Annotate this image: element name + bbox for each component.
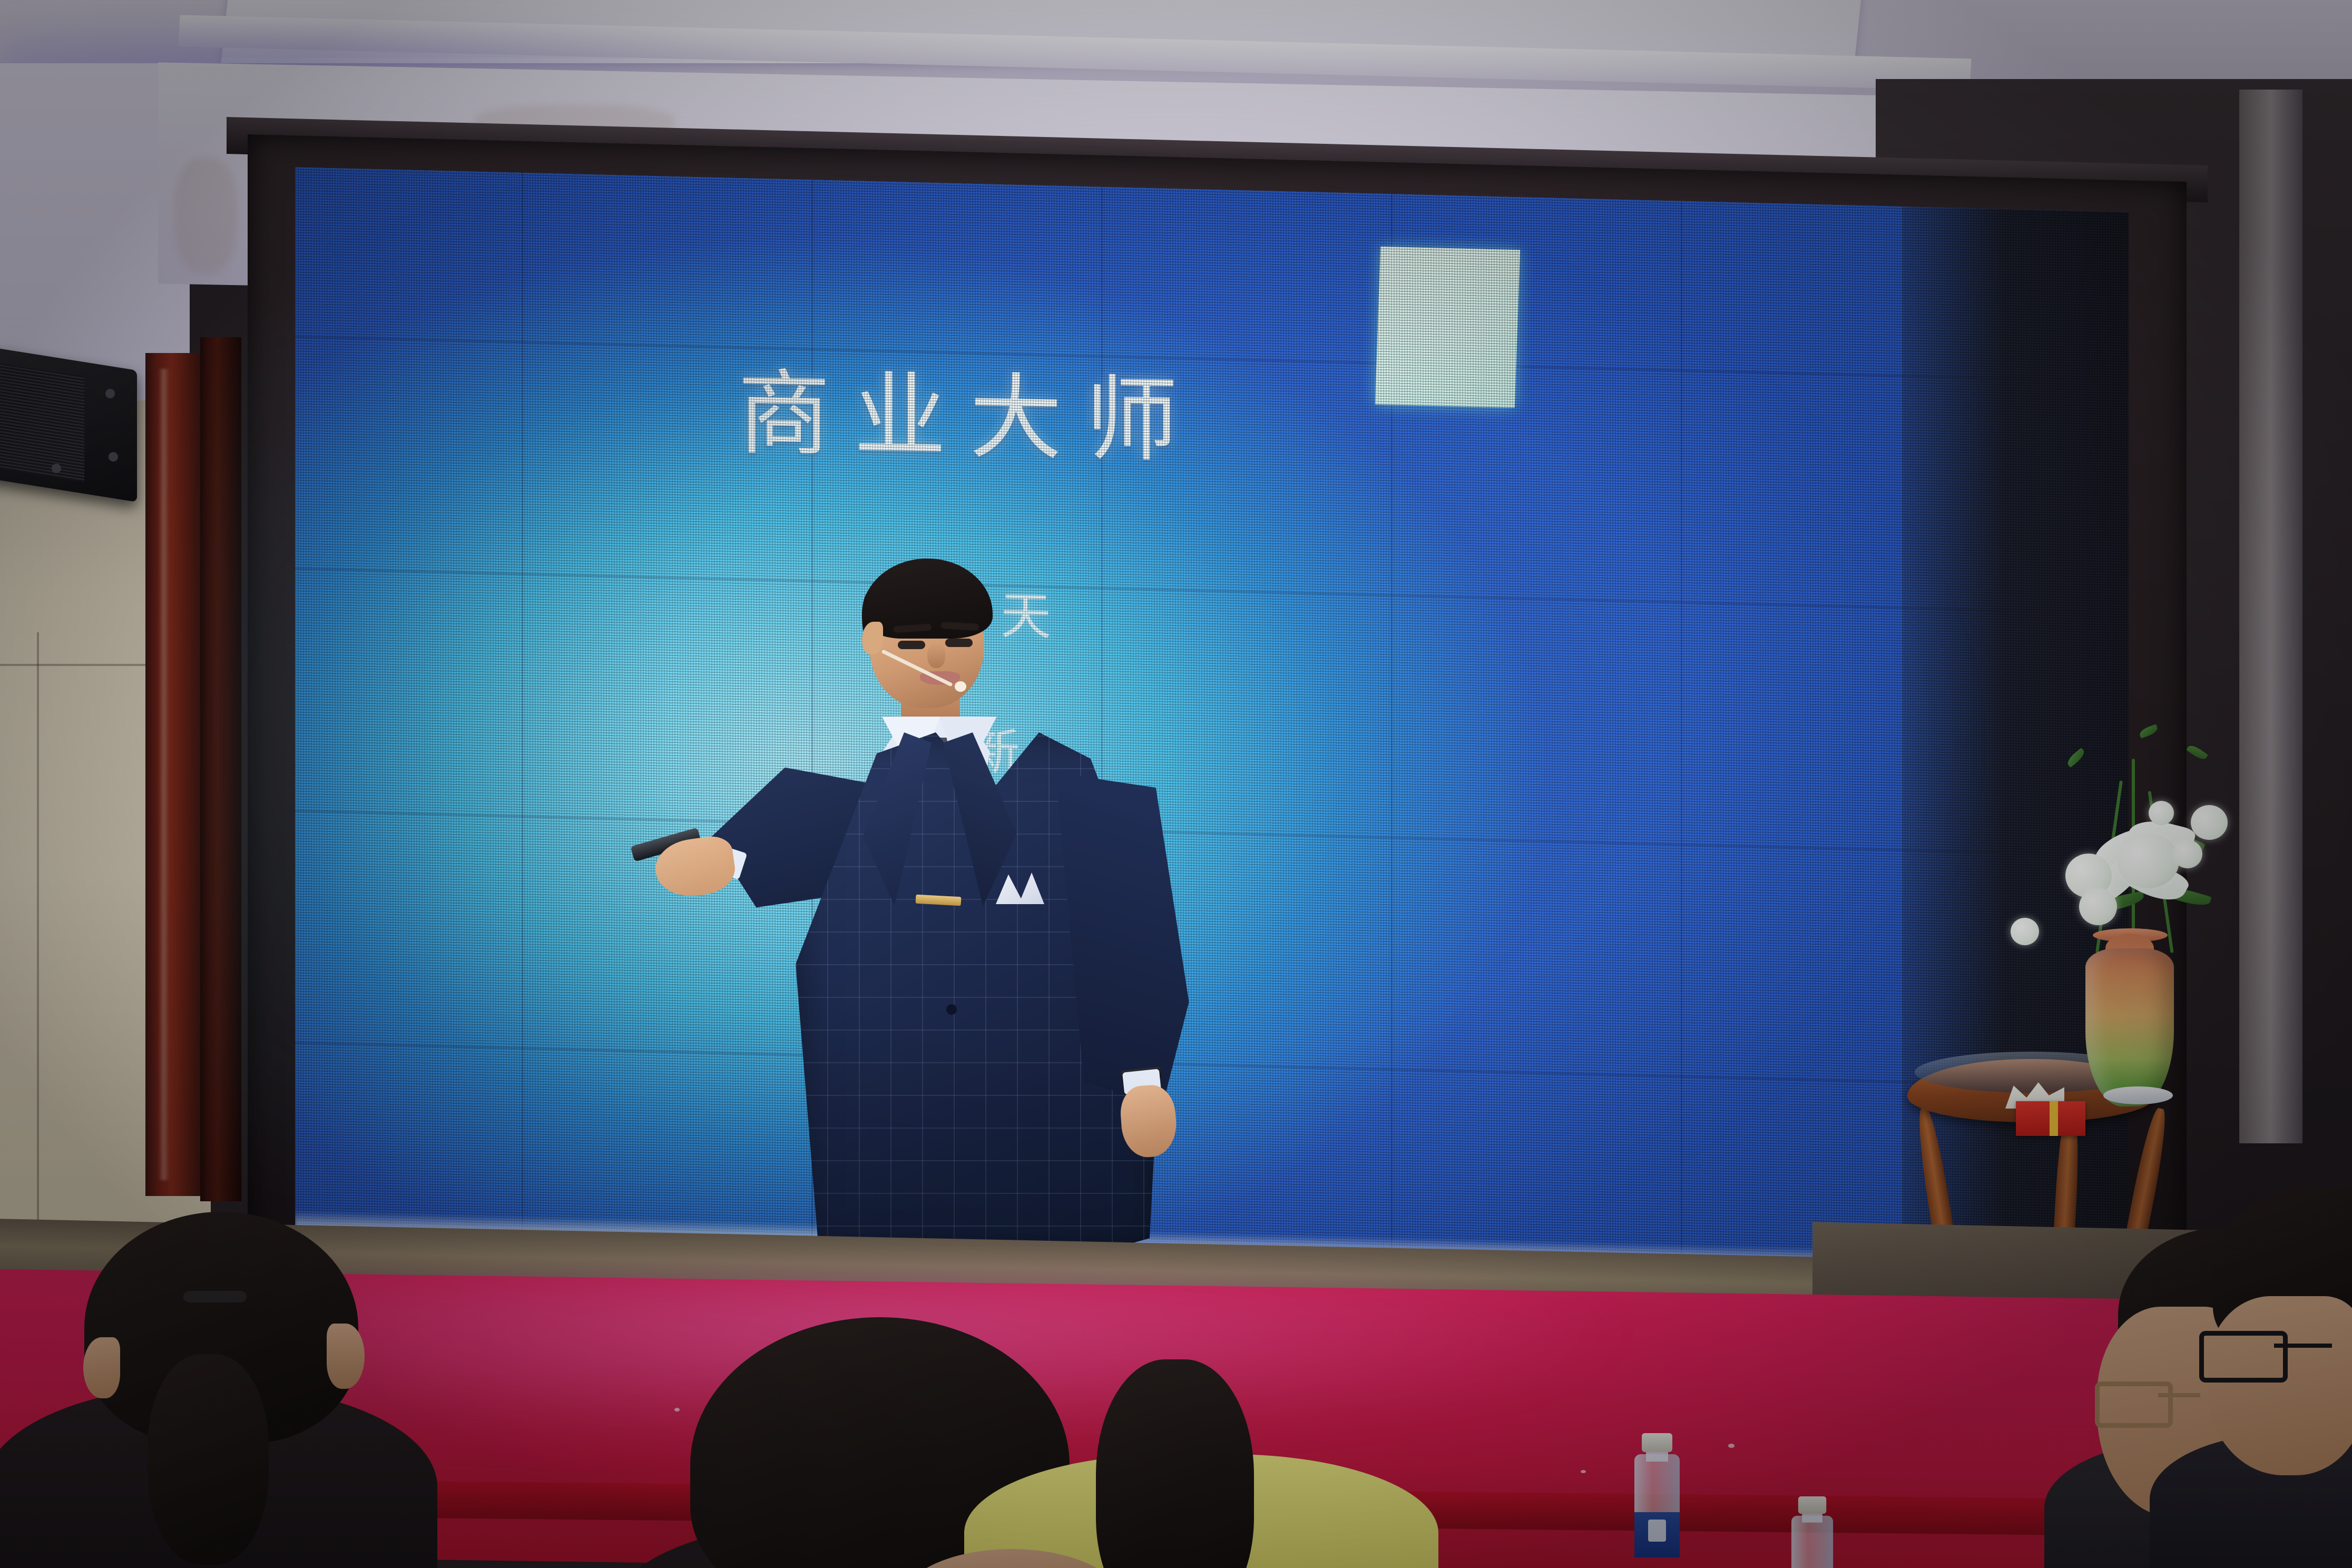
rose-bud-3: [2149, 801, 2174, 825]
tissue-box-ribbon: [2050, 1101, 2058, 1136]
bottle-label-mark: [1648, 1520, 1666, 1542]
bottle-cap: [1798, 1496, 1826, 1514]
presenter-eye-left: [898, 641, 925, 649]
wood-column-left-inner: [200, 337, 241, 1201]
led-pixel-grid: [295, 167, 2129, 1276]
rose-bud-2: [2011, 918, 2039, 945]
audience-member-left: [16, 1212, 416, 1568]
attendee-ear-left: [83, 1337, 120, 1398]
headset-microphone-capsule: [955, 681, 966, 692]
glasses-icon: [2095, 1381, 2173, 1428]
speaker-bolt-2: [109, 452, 118, 462]
rose-bloom-lower: [2079, 888, 2117, 925]
attendee-hair: [1096, 1359, 1254, 1568]
presenter-ear: [862, 622, 883, 654]
rose-bud-1: [2173, 840, 2202, 868]
attendee-face: [2208, 1296, 2352, 1475]
audience-member-yellow: [964, 1391, 1438, 1568]
glasses-bridge: [2158, 1393, 2200, 1397]
carpet-lint-3: [1728, 1444, 1734, 1448]
attendee-ear-right: [327, 1324, 365, 1389]
rose-bloom-right: [2191, 805, 2228, 840]
seminar-photo-scene: 商业大师 第一天 创新: [0, 0, 2352, 1568]
pa-speaker-grille: [0, 361, 84, 482]
bottle-body: [1791, 1516, 1833, 1568]
carpet-lint-4: [1581, 1470, 1586, 1473]
flower-vase: [2085, 948, 2174, 1106]
presenter-eye-right: [945, 639, 973, 647]
glasses-icon: [2199, 1331, 2288, 1383]
presenter-jacket-button: [946, 1004, 957, 1015]
wall-right-metal-trim: [2239, 90, 2302, 1143]
speaker-bolt-3: [52, 464, 61, 473]
glasses-bridge: [2274, 1344, 2332, 1348]
led-video-wall: 商业大师 第一天 创新: [295, 167, 2129, 1276]
wall-scuff-3: [174, 158, 237, 274]
bottle-cap: [1642, 1433, 1672, 1452]
speaker-bolt-1: [105, 389, 115, 398]
wood-column-left: [145, 353, 208, 1196]
table-saucer: [2103, 1086, 2173, 1104]
attendee-hair-tie: [183, 1291, 247, 1302]
audience-member-far-right-glasses: [2202, 1207, 2352, 1568]
lily-bloom-main: [2117, 834, 2179, 888]
wood-column-highlight: [158, 369, 170, 1180]
presenter-nose: [927, 643, 945, 668]
attendee-ponytail: [148, 1354, 269, 1565]
